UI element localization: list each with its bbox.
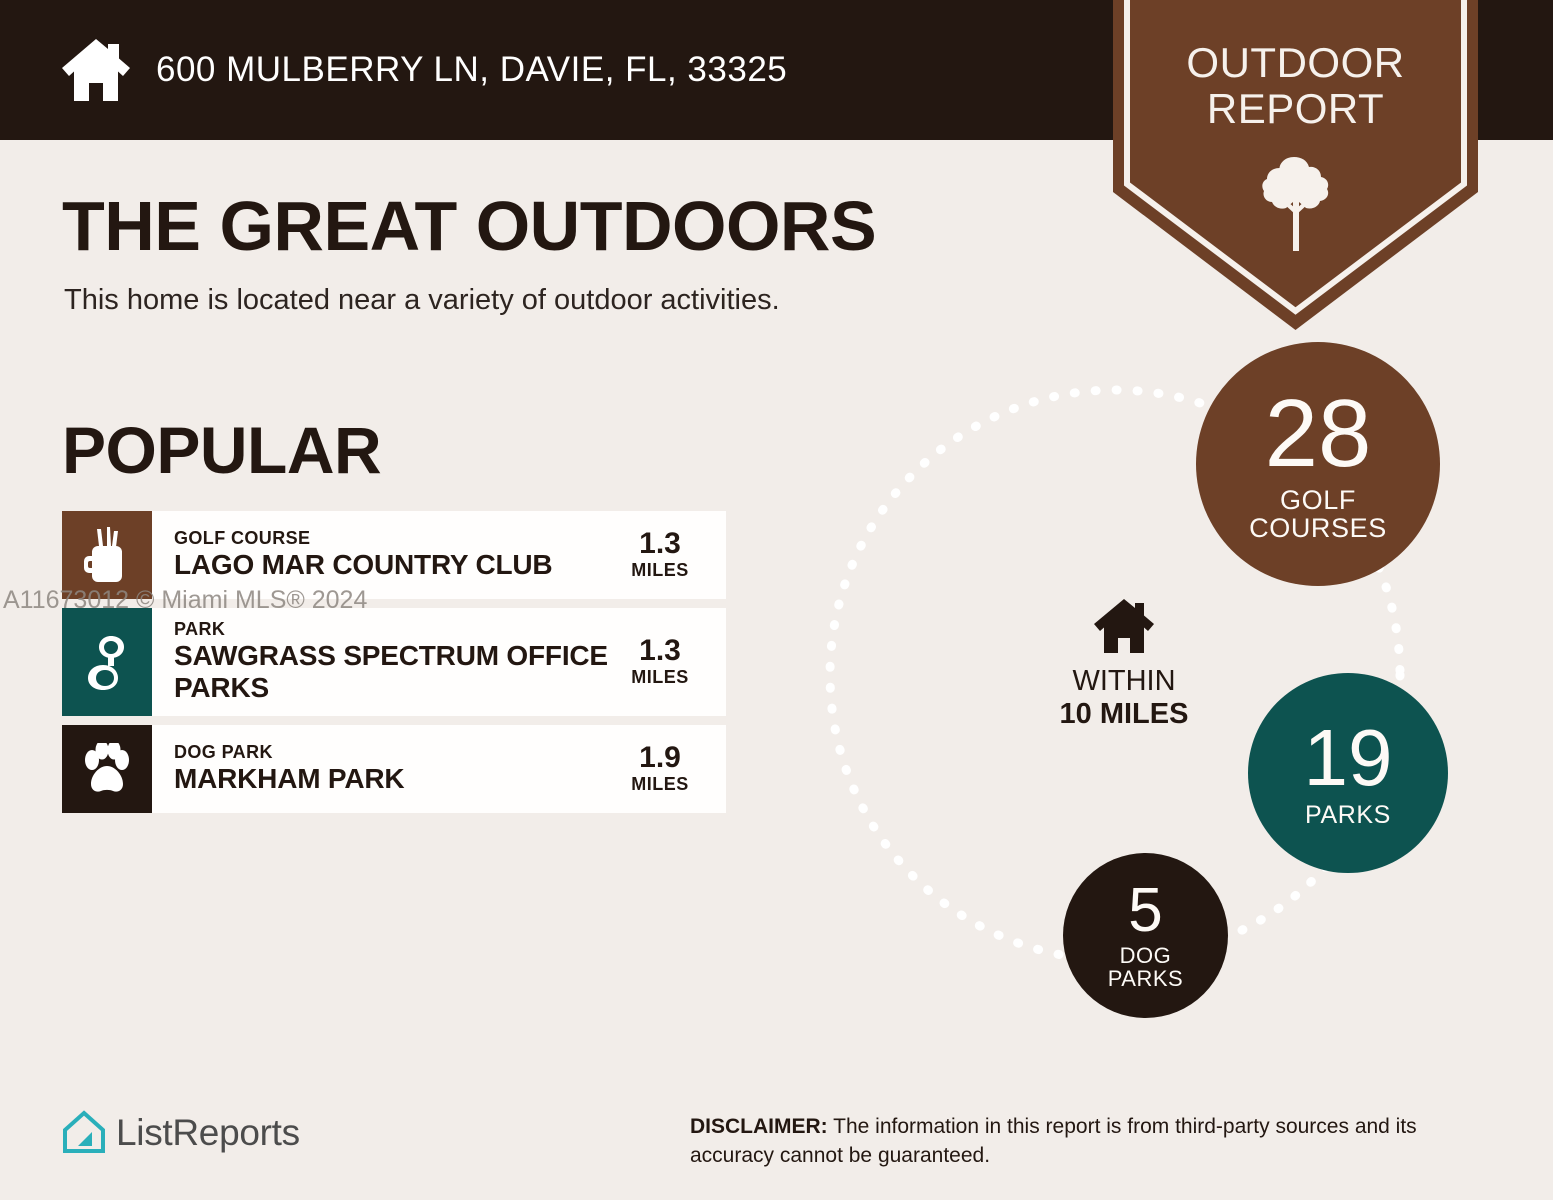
paw-print-icon	[81, 743, 133, 795]
section-heading-popular: POPULAR	[62, 412, 381, 488]
within-label-line1: WITHIN	[1024, 665, 1224, 698]
mls-watermark: A11673012 © Miami MLS® 2024	[3, 586, 367, 615]
listreports-logo-text: ListReports	[116, 1112, 300, 1154]
within-radius-center: WITHIN 10 MILES	[1024, 597, 1224, 731]
stat-bubble-golf-courses: 28 GOLF COURSES	[1196, 342, 1440, 586]
stat-count: 5	[1128, 880, 1162, 942]
list-item-category: DOG PARK	[174, 741, 612, 763]
house-icon	[1091, 597, 1157, 655]
park-tree-icon	[81, 634, 133, 690]
badge-title: OUTDOOR REPORT	[1113, 40, 1478, 132]
within-10-miles-diagram: 28 GOLF COURSES 19 PARKS 5 DOG PARKS WIT…	[800, 350, 1553, 1050]
within-label-line2: 10 MILES	[1024, 698, 1224, 731]
stat-label-line2: PARKS	[1108, 968, 1183, 991]
listreports-house-icon	[62, 1110, 106, 1156]
list-item-distance: 1.3 MILES	[612, 635, 720, 688]
golf-bag-icon	[84, 526, 130, 584]
list-item-category: PARK	[174, 618, 612, 640]
badge-title-line1: OUTDOOR	[1113, 40, 1478, 86]
list-item-name: LAGO MAR COUNTRY CLUB	[174, 549, 612, 581]
badge-title-line2: REPORT	[1113, 86, 1478, 132]
disclaimer: DISCLAIMER: The information in this repo…	[690, 1112, 1500, 1170]
page-title: THE GREAT OUTDOORS	[62, 186, 876, 266]
tree-icon	[1261, 155, 1331, 253]
property-address: 600 MULBERRY LN, DAVIE, FL, 33325	[156, 50, 787, 90]
listreports-logo[interactable]: ListReports	[62, 1110, 300, 1156]
list-item[interactable]: PARK SAWGRASS SPECTRUM OFFICE PARKS 1.3 …	[62, 608, 726, 716]
house-icon	[58, 37, 134, 103]
disclaimer-label: DISCLAIMER:	[690, 1115, 828, 1138]
stat-bubble-dog-parks: 5 DOG PARKS	[1063, 853, 1228, 1018]
popular-places-list: GOLF COURSE LAGO MAR COUNTRY CLUB 1.3 MI…	[62, 511, 726, 822]
stat-count: 19	[1304, 718, 1393, 798]
stat-count: 28	[1265, 386, 1372, 482]
stat-label-line1: PARKS	[1305, 802, 1391, 828]
page-subtitle: This home is located near a variety of o…	[64, 284, 780, 317]
list-item[interactable]: DOG PARK MARKHAM PARK 1.9 MILES	[62, 725, 726, 813]
stat-bubble-parks: 19 PARKS	[1248, 673, 1448, 873]
list-item-category: GOLF COURSE	[174, 527, 612, 549]
list-item-name: MARKHAM PARK	[174, 763, 612, 795]
row-icon-tile	[62, 608, 152, 716]
stat-label-line1: GOLF	[1249, 486, 1387, 514]
outdoor-report-badge: OUTDOOR REPORT	[1113, 0, 1478, 330]
row-icon-tile	[62, 725, 152, 813]
list-item-distance: 1.3 MILES	[612, 528, 720, 581]
list-item-name: SAWGRASS SPECTRUM OFFICE PARKS	[174, 640, 612, 704]
list-item-distance: 1.9 MILES	[612, 742, 720, 795]
stat-label-line1: DOG	[1108, 945, 1183, 968]
stat-label-line2: COURSES	[1249, 514, 1387, 542]
